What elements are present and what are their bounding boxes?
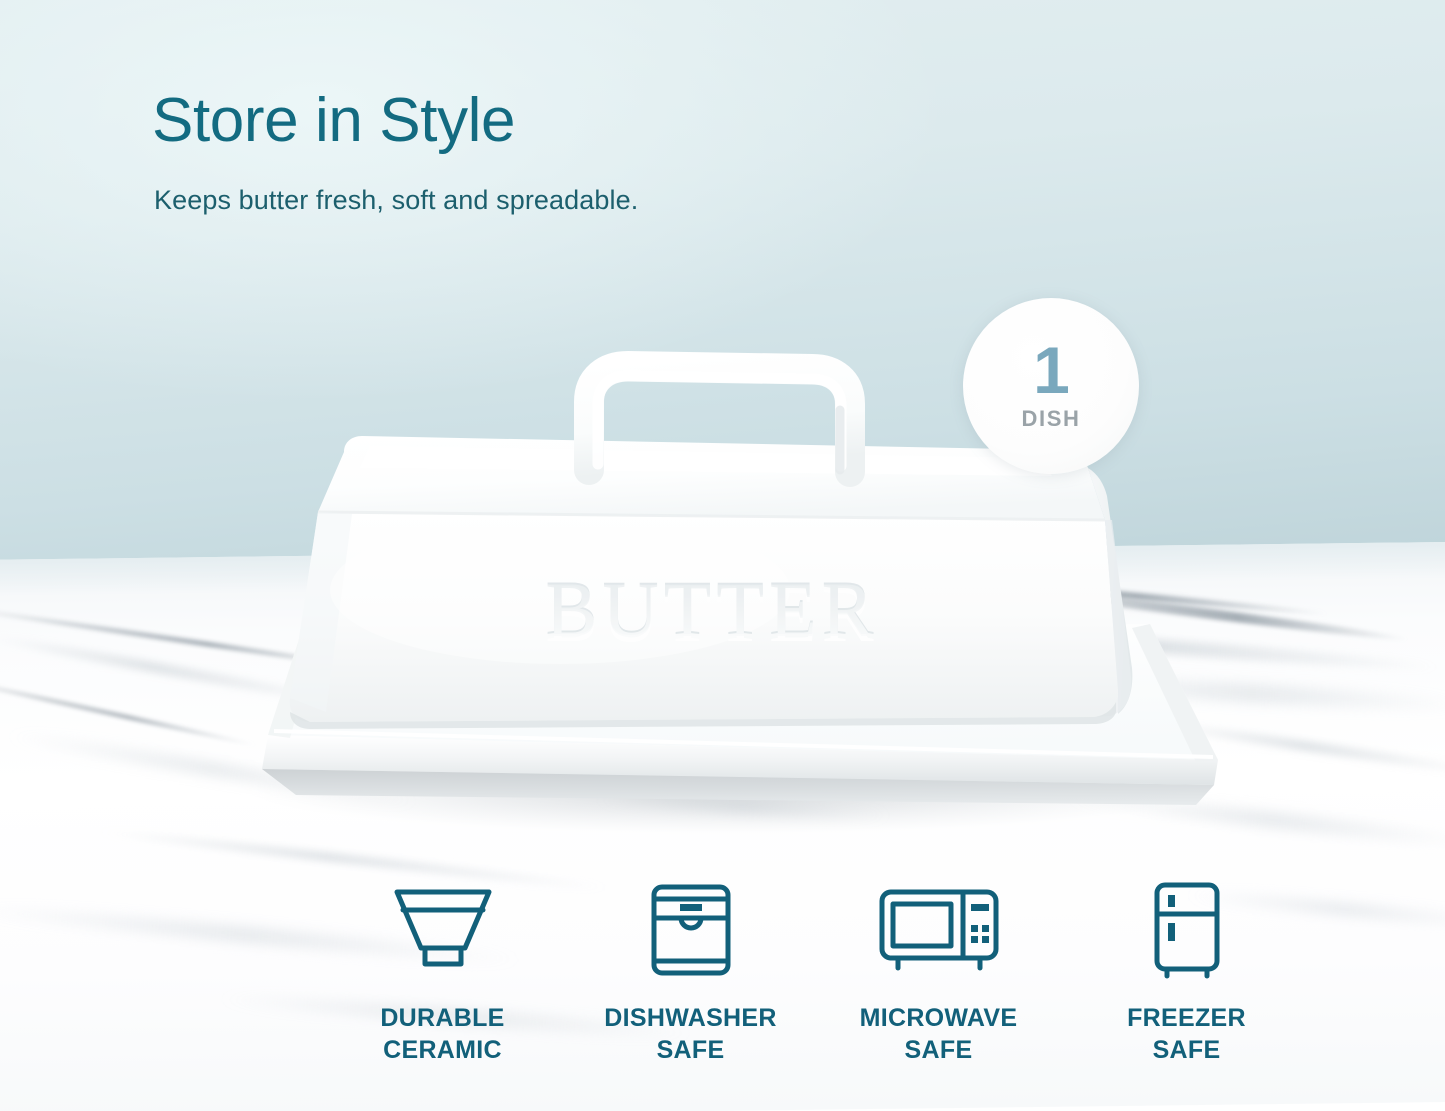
marble-vein — [4, 728, 421, 810]
fridge-icon — [1152, 882, 1222, 978]
badge-count: 1 — [1033, 340, 1069, 401]
feature-dishwasher-safe: DISHWASHER SAFE — [567, 882, 815, 1066]
marble-vein — [593, 794, 893, 821]
feature-freezer-safe: FREEZER SAFE — [1063, 882, 1311, 1066]
badge-label: DISH — [1022, 406, 1081, 432]
microwave-icon — [877, 882, 1001, 978]
marble-vein — [1032, 672, 1445, 715]
quantity-badge: 1 DISH — [963, 298, 1139, 474]
feature-label: DISHWASHER SAFE — [604, 1002, 776, 1066]
feature-label: DURABLE CERAMIC — [380, 1002, 504, 1066]
feature-label: FREEZER SAFE — [1127, 1002, 1246, 1066]
page-subtitle: Keeps butter fresh, soft and spreadable. — [154, 185, 638, 216]
feature-label: MICROWAVE SAFE — [860, 1002, 1018, 1066]
marble-vein — [1153, 719, 1445, 778]
marble-vein — [0, 605, 379, 672]
feature-durable-ceramic: DURABLE CERAMIC — [319, 882, 567, 1066]
product-infographic: Store in Style Keeps butter fresh, soft … — [0, 0, 1445, 1111]
marble-vein — [0, 632, 359, 710]
feature-row: DURABLE CERAMIC DISHWASHER SAFE — [0, 882, 1445, 1066]
dishwasher-icon — [648, 882, 734, 978]
page-title: Store in Style — [152, 88, 515, 153]
feature-microwave-safe: MICROWAVE SAFE — [815, 882, 1063, 1066]
bowl-icon — [389, 882, 497, 978]
marble-vein — [1064, 789, 1445, 851]
